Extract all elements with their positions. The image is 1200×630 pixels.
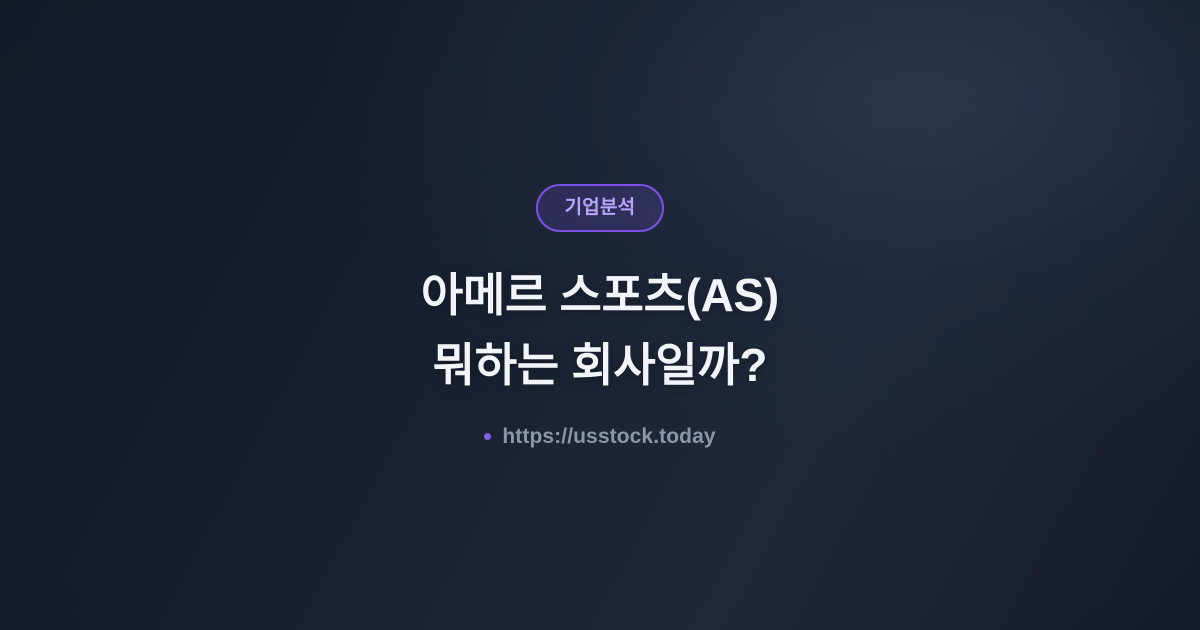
category-badge: 기업분석 xyxy=(536,184,665,232)
site-url-row: https://usstock.today xyxy=(484,426,715,447)
og-share-card: 기업분석 아메르 스포츠(AS) 뭐하는 회사일까? https://ussto… xyxy=(0,0,1200,630)
bullet-dot-icon xyxy=(484,433,491,440)
card-content: 기업분석 아메르 스포츠(AS) 뭐하는 회사일까? https://ussto… xyxy=(0,0,1200,630)
page-title-line-2: 뭐하는 회사일까? xyxy=(421,330,779,400)
page-title-line-1: 아메르 스포츠(AS) xyxy=(421,260,779,330)
category-badge-label: 기업분석 xyxy=(565,198,636,217)
site-url-label: https://usstock.today xyxy=(502,426,715,447)
page-title: 아메르 스포츠(AS) 뭐하는 회사일까? xyxy=(421,260,779,400)
